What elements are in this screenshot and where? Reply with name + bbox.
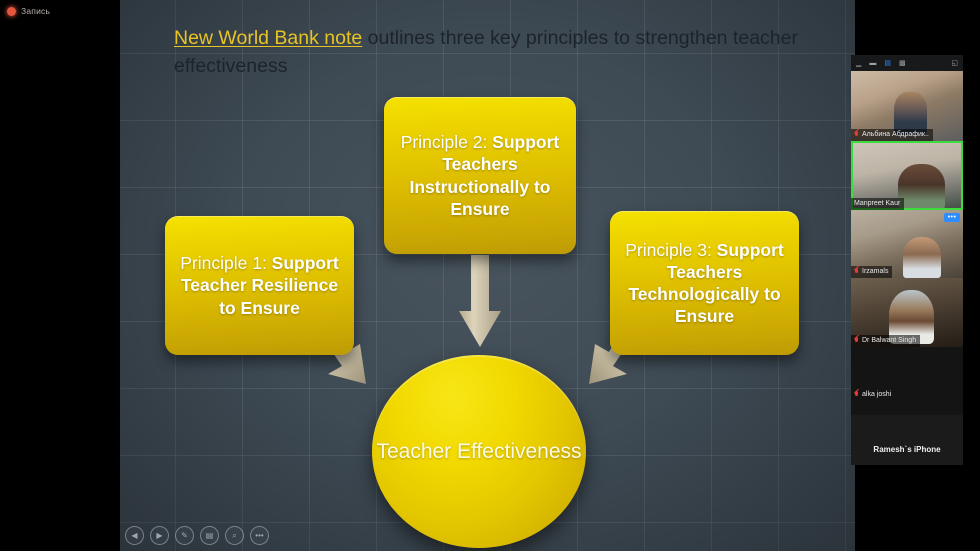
participant-name: Irzamals — [862, 267, 888, 277]
participant-nametag: alka joshi — [851, 389, 895, 401]
zoom-screenshare-screen: Запись New World Bank note outlines thre… — [0, 0, 980, 551]
participant-nametag: Альбина Абдрафик.. — [851, 129, 933, 141]
world-bank-note-link[interactable]: New World Bank note — [174, 27, 362, 49]
participant-tile[interactable]: Альбина Абдрафик.. — [851, 71, 963, 141]
next-slide-button[interactable]: ▶ — [150, 526, 169, 545]
participant-name: Manpreet Kaur — [854, 199, 900, 209]
participant-tile[interactable]: ••• Irzamals — [851, 210, 963, 278]
principle-1-box: Principle 1: Support Teacher Resilience … — [165, 216, 354, 355]
popout-icon[interactable]: ◱ — [951, 60, 958, 67]
tile-more-options-button[interactable]: ••• — [944, 213, 960, 222]
strip-view-icon[interactable]: ▤ — [884, 60, 891, 67]
participant-name: Альбина Абдрафик.. — [862, 130, 929, 140]
recording-label: Запись — [21, 6, 50, 16]
participant-tile[interactable]: Manpreet Kaur — [851, 141, 963, 210]
previous-slide-button[interactable]: ◀ — [125, 526, 144, 545]
record-dot-icon — [7, 7, 16, 16]
principle-3-box: Principle 3: Support Teachers Technologi… — [610, 211, 799, 355]
principle-1-text: Principle 1: Support Teacher Resilience … — [165, 252, 354, 318]
presenter-controls[interactable]: ◀ ▶ ✎ ▤ ⌕ ••• — [125, 526, 269, 545]
participant-tile[interactable]: Ramesh`s iPhone — [851, 415, 963, 465]
video-filmstrip: ▁ ▬ ▤ ▩ ◱ Альбина Абдрафик.. Manpreet Ka… — [851, 55, 963, 465]
recording-indicator: Запись — [0, 0, 120, 22]
zoom-in-button[interactable]: ⌕ — [225, 526, 244, 545]
principle-2-box: Principle 2: Support Teachers Instructio… — [384, 97, 576, 254]
participant-name: alka joshi — [862, 390, 891, 400]
participant-tile[interactable]: Dr Balwant Singh — [851, 278, 963, 347]
participant-nametag: Dr Balwant Singh — [851, 335, 920, 347]
all-slides-button[interactable]: ▤ — [200, 526, 219, 545]
participant-tile[interactable]: alka joshi — [851, 347, 963, 415]
minimize-icon[interactable]: ▁ — [856, 60, 861, 67]
speaker-view-icon[interactable]: ▬ — [869, 60, 876, 67]
principle-3-text: Principle 3: Support Teachers Technologi… — [610, 239, 799, 327]
participant-nametag: Manpreet Kaur — [851, 198, 904, 210]
more-options-button[interactable]: ••• — [250, 526, 269, 545]
slide-title: New World Bank note outlines three key p… — [174, 24, 824, 80]
participant-name: Ramesh`s iPhone — [873, 445, 940, 454]
teacher-effectiveness-circle: Teacher Effectiveness — [372, 355, 586, 548]
participant-nametag: Irzamals — [851, 266, 892, 278]
principle-2-prefix: Principle 2: — [401, 132, 492, 152]
gallery-view-icon[interactable]: ▩ — [899, 60, 906, 67]
principle-1-prefix: Principle 1: — [180, 253, 271, 273]
principle-2-text: Principle 2: Support Teachers Instructio… — [384, 131, 576, 219]
teacher-effectiveness-label: Teacher Effectiveness — [376, 438, 581, 465]
pen-tool-button[interactable]: ✎ — [175, 526, 194, 545]
video-panel-toolbar[interactable]: ▁ ▬ ▤ ▩ ◱ — [851, 55, 963, 71]
participant-video-off — [851, 347, 963, 415]
mic-muted-icon — [854, 131, 859, 139]
principle-3-prefix: Principle 3: — [625, 240, 716, 260]
participant-name: Dr Balwant Singh — [862, 336, 916, 346]
mic-muted-icon — [854, 268, 859, 276]
arrow-down-to-center-icon — [458, 255, 502, 355]
shared-slide: New World Bank note outlines three key p… — [120, 0, 855, 551]
mic-muted-icon — [854, 391, 859, 399]
mic-muted-icon — [854, 337, 859, 345]
